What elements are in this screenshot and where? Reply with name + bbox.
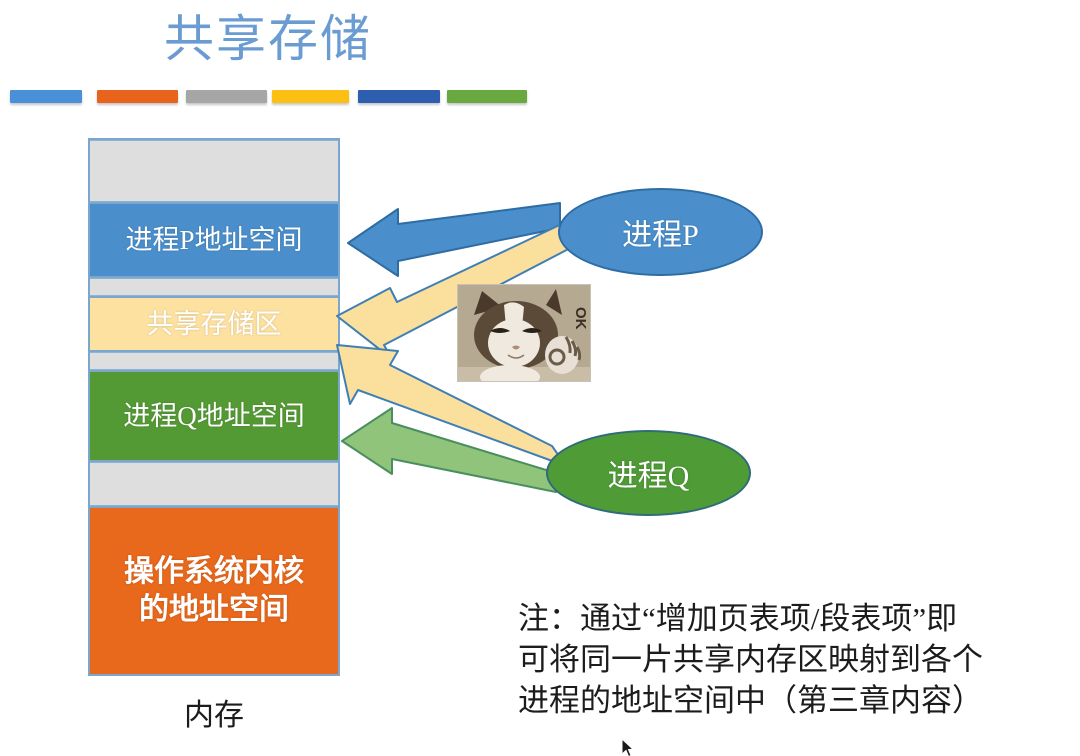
svg-text:OK: OK <box>572 307 589 330</box>
process-q-node: 进程Q <box>546 430 751 516</box>
arrow-p-to-p-space <box>348 203 560 276</box>
memory-segment-free-2 <box>90 352 338 370</box>
memory-segment-process-q: 进程Q地址空间 <box>90 370 338 462</box>
process-q-label: 进程Q <box>608 451 690 495</box>
arrow-q-to-q-space <box>342 408 556 492</box>
note-line-2: 可将同一片共享内存区映射到各个 <box>518 639 1038 680</box>
memory-segment-free-top <box>90 140 338 202</box>
rule-segment-orange <box>97 90 178 103</box>
memory-segment-process-q-label: 进程Q地址空间 <box>123 400 305 433</box>
note-text: 注：通过“增加页表项/段表项”即可将同一片共享内存区映射到各个进程的地址空间中（… <box>518 598 1038 721</box>
memory-segment-shared: 共享存储区 <box>90 296 338 352</box>
memory-segment-shared-label: 共享存储区 <box>147 308 282 341</box>
page-title: 共享存储 <box>164 8 372 70</box>
rule-segment-blue <box>10 90 82 103</box>
rule-segment-gray <box>186 90 267 103</box>
memory-segment-process-p: 进程P地址空间 <box>90 202 338 278</box>
note-line-3: 进程的地址空间中（第三章内容） <box>518 680 1038 721</box>
memory-segment-process-p-label: 进程P地址空间 <box>125 224 302 257</box>
note-line-1: 注：通过“增加页表项/段表项”即 <box>518 598 1038 639</box>
rule-segment-darkblue <box>358 90 440 103</box>
title-color-rule <box>10 90 530 106</box>
cat-meme-image: OK <box>457 284 591 382</box>
memory-segment-free-3 <box>90 462 338 506</box>
mouse-cursor-icon <box>621 738 635 756</box>
rule-segment-green <box>447 90 527 103</box>
memory-segment-os-kernel: 操作系统内核 的地址空间 <box>90 506 338 676</box>
process-p-label: 进程P <box>622 210 699 254</box>
memory-segment-free-1 <box>90 278 338 296</box>
memory-caption-label: 内存 <box>88 690 340 734</box>
memory-segment-os-kernel-label: 操作系统内核 的地址空间 <box>124 553 304 629</box>
rule-segment-yellow <box>272 90 349 103</box>
process-p-node: 进程P <box>558 188 763 276</box>
slide-canvas: 共享存储 进程P地址空间共享存储区进程Q地址空间操作系统内核 的地址空间 内存 … <box>0 0 1080 756</box>
memory-column: 进程P地址空间共享存储区进程Q地址空间操作系统内核 的地址空间 <box>88 138 340 676</box>
cat-illustration-icon: OK <box>458 285 590 381</box>
